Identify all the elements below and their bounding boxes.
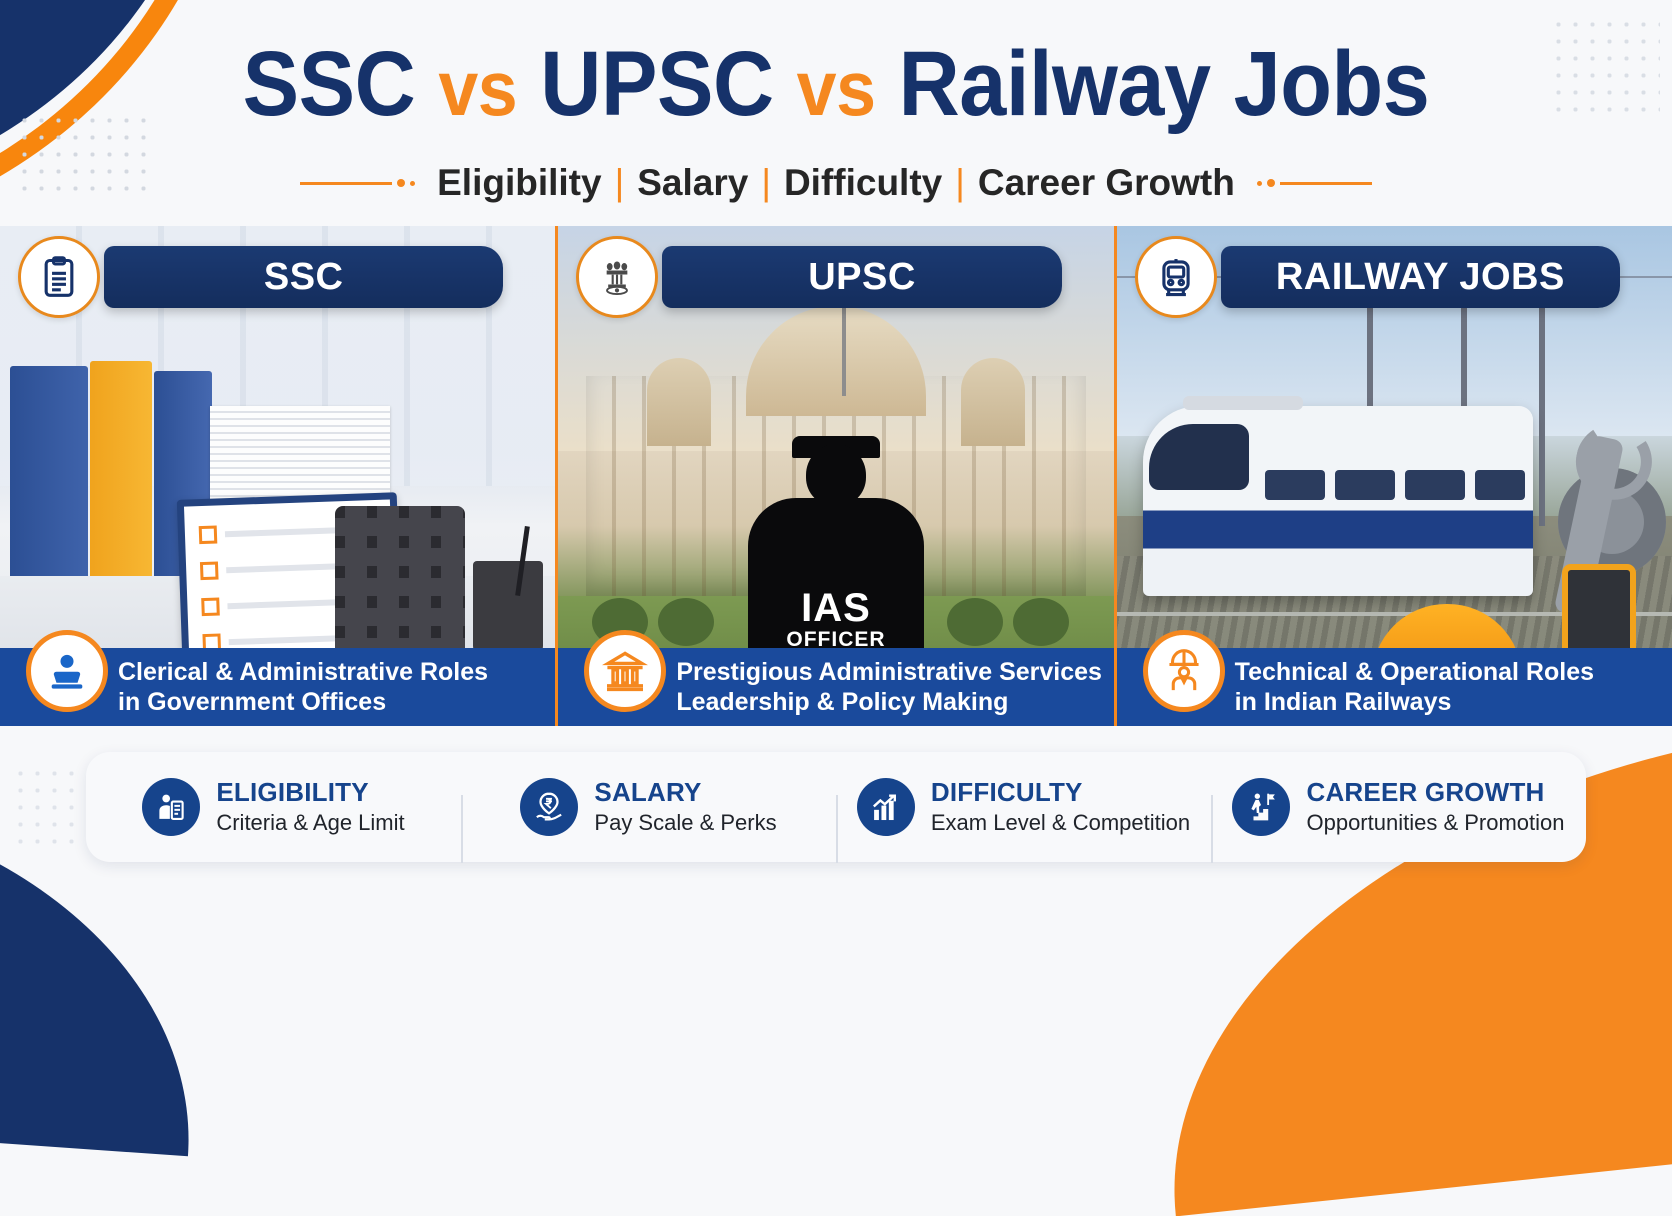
railway-header-label: RAILWAY JOBS — [1276, 256, 1565, 299]
bar-chart-arrow-icon — [857, 778, 915, 836]
ashoka-emblem-icon — [576, 236, 658, 318]
subtitle-row: Eligibility | Salary | Difficulty | Care… — [0, 162, 1672, 204]
feature-career-growth-title: CAREER GROWTH — [1306, 777, 1564, 808]
ssc-column-header: SSC — [0, 240, 555, 312]
ssc-header-pill[interactable]: SSC — [104, 246, 503, 308]
title-part-ssc: SSC — [243, 33, 416, 135]
ssc-caption-text: Clerical & Administrative Roles in Gover… — [118, 657, 488, 718]
clipboard-icon — [18, 236, 100, 318]
feature-eligibility-title: ELIGIBILITY — [216, 777, 404, 808]
dot-pattern-bottom-left — [12, 765, 82, 845]
railway-caption-text: Technical & Operational Roles in Indian … — [1235, 657, 1594, 718]
feature-career-growth-subtitle: Opportunities & Promotion — [1306, 810, 1564, 836]
upsc-caption-bar: Prestigious Administrative Services Lead… — [558, 648, 1113, 726]
feature-bar: ELIGIBILITY Criteria & Age Limit SALARY … — [86, 752, 1586, 862]
column-railway: RAILWAY JOBS — [1114, 226, 1672, 726]
train-illustration — [1143, 406, 1533, 596]
feature-eligibility-subtitle: Criteria & Age Limit — [216, 810, 404, 836]
feature-difficulty-subtitle: Exam Level & Competition — [931, 810, 1190, 836]
title-part-upsc: UPSC — [540, 33, 773, 135]
person-document-icon — [142, 778, 200, 836]
feature-salary-title: SALARY — [594, 777, 776, 808]
upsc-header-pill[interactable]: UPSC — [662, 246, 1061, 308]
feature-career-growth[interactable]: CAREER GROWTH Opportunities & Promotion — [1211, 777, 1586, 837]
ssc-caption-line2: in Government Offices — [118, 687, 488, 718]
ssc-header-label: SSC — [264, 256, 344, 299]
engineer-helmet-icon — [1143, 630, 1225, 712]
column-ssc: SSC Clerical & Administrat — [0, 226, 555, 726]
subtitle-separator-1: | — [615, 162, 625, 204]
railway-caption-bar: Technical & Operational Roles in Indian … — [1117, 648, 1672, 726]
title-part-railway: Railway Jobs — [899, 33, 1430, 135]
ssc-caption-bar: Clerical & Administrative Roles in Gover… — [0, 648, 555, 726]
feature-eligibility[interactable]: ELIGIBILITY Criteria & Age Limit — [86, 777, 461, 837]
feature-difficulty-title: DIFFICULTY — [931, 777, 1190, 808]
railway-column-header: RAILWAY JOBS — [1117, 240, 1672, 312]
feature-salary-subtitle: Pay Scale & Perks — [594, 810, 776, 836]
ssc-caption-line1: Clerical & Administrative Roles — [118, 657, 488, 688]
ornament-right — [1257, 179, 1372, 187]
page-title: SSC vs UPSC vs Railway Jobs — [67, 38, 1605, 130]
railway-header-pill[interactable]: RAILWAY JOBS — [1221, 246, 1620, 308]
subtitle-item-salary: Salary — [637, 162, 748, 204]
ornament-left — [300, 179, 415, 187]
government-building-icon — [584, 630, 666, 712]
comparison-columns: SSC Clerical & Administrat — [0, 226, 1672, 726]
title-vs-1: vs — [438, 44, 517, 132]
upsc-caption-line2: Leadership & Policy Making — [676, 687, 1102, 718]
railway-caption-line2: in Indian Railways — [1235, 687, 1594, 718]
subtitle-separator-2: | — [761, 162, 771, 204]
subtitle-item-difficulty: Difficulty — [784, 162, 942, 204]
column-upsc: IAS OFFICER UPSC — [555, 226, 1113, 726]
upsc-column-header: UPSC — [558, 240, 1113, 312]
subtitle-item-eligibility: Eligibility — [437, 162, 601, 204]
upsc-caption-line1: Prestigious Administrative Services — [676, 657, 1102, 688]
feature-salary[interactable]: SALARY Pay Scale & Perks — [461, 777, 836, 837]
title-vs-2: vs — [797, 44, 876, 132]
person-at-desk-icon — [26, 630, 108, 712]
subtitle-separator-3: | — [955, 162, 965, 204]
railway-caption-line1: Technical & Operational Roles — [1235, 657, 1594, 688]
feature-difficulty[interactable]: DIFFICULTY Exam Level & Competition — [836, 777, 1211, 837]
upsc-header-label: UPSC — [808, 256, 916, 299]
upsc-caption-text: Prestigious Administrative Services Lead… — [676, 657, 1102, 718]
rupee-hand-icon — [520, 778, 578, 836]
stairs-flag-icon — [1232, 778, 1290, 836]
subtitle: Eligibility | Salary | Difficulty | Care… — [437, 162, 1235, 204]
infographic-header: SSC vs UPSC vs Railway Jobs Eligibility … — [0, 0, 1672, 226]
subtitle-item-career-growth: Career Growth — [978, 162, 1235, 204]
ias-label: IAS — [748, 586, 924, 631]
train-front-icon — [1135, 236, 1217, 318]
